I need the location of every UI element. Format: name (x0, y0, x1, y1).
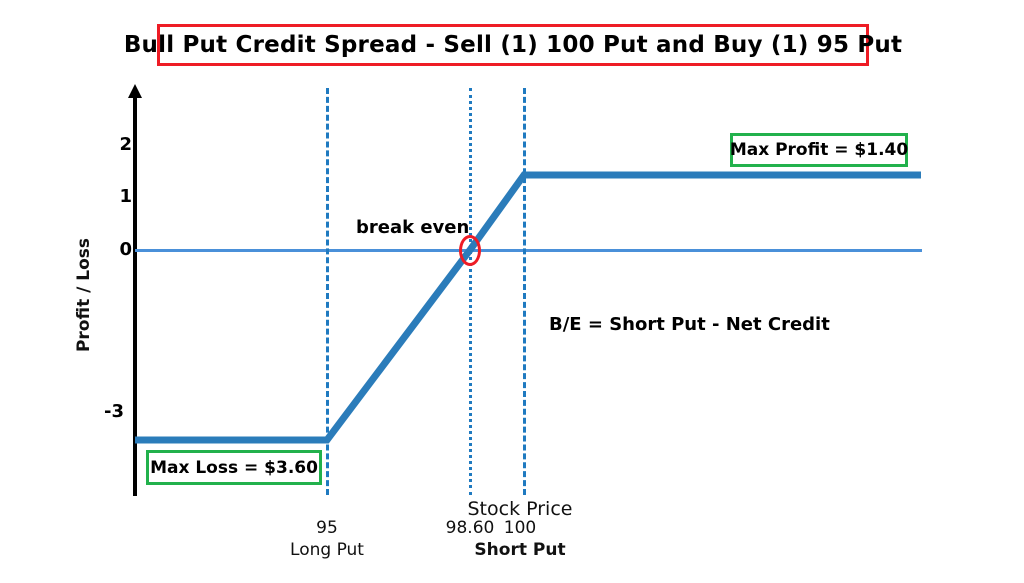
y-tick-label-2: 2 (96, 134, 132, 155)
x-tick-95-sublabel: Long Put (262, 540, 392, 560)
y-axis-line (133, 96, 137, 496)
x-tick-100-value: 100 (455, 518, 585, 538)
y-axis-title: Profit / Loss (74, 205, 94, 385)
x-tick-95-value: 95 (262, 518, 392, 538)
zero-reference-line (135, 249, 922, 252)
max-loss-text: Max Loss = $3.60 (150, 458, 318, 478)
payoff-line (0, 0, 1024, 583)
max-profit-text: Max Profit = $1.40 (730, 140, 908, 160)
payoff-diagram: Bull Put Credit Spread - Sell (1) 100 Pu… (0, 0, 1024, 583)
y-tick-label-0: 0 (96, 239, 132, 260)
max-profit-callout: Max Profit = $1.40 (730, 133, 908, 167)
break-even-vertical-line (469, 88, 472, 495)
y-tick-label-minus3: -3 (88, 401, 124, 422)
break-even-label: break even (356, 217, 469, 238)
long-put-strike-line (326, 88, 329, 495)
break-even-marker-icon (459, 235, 481, 266)
x-tick-95: 95 Long Put (262, 518, 392, 560)
x-axis-title: Stock Price (400, 498, 640, 520)
chart-title-box: Bull Put Credit Spread - Sell (1) 100 Pu… (157, 24, 869, 66)
x-tick-100-sublabel: Short Put (455, 540, 585, 560)
break-even-formula: B/E = Short Put - Net Credit (549, 314, 830, 335)
max-loss-callout: Max Loss = $3.60 (146, 450, 322, 485)
y-tick-label-1: 1 (96, 186, 132, 207)
y-axis-arrow-icon (128, 84, 142, 98)
x-tick-100: 100 Short Put (455, 518, 585, 560)
short-put-strike-line (523, 88, 526, 495)
page-title: Bull Put Credit Spread - Sell (1) 100 Pu… (124, 32, 902, 58)
